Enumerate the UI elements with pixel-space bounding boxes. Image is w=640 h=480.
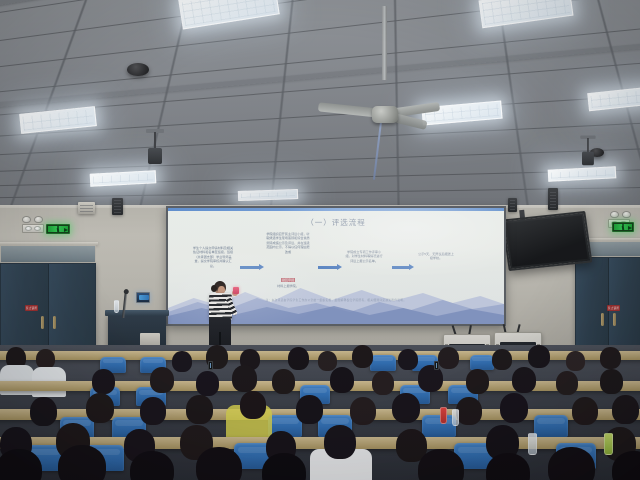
person-head	[456, 397, 482, 425]
ceiling-grid	[0, 0, 640, 215]
seat	[422, 415, 456, 437]
person-head	[330, 367, 354, 393]
ceiling-panel-light	[587, 87, 640, 111]
water-bottle	[604, 433, 613, 455]
person-head	[36, 349, 55, 369]
person-head	[398, 349, 418, 370]
person-head	[172, 351, 192, 372]
seat	[370, 355, 396, 371]
person-head	[566, 351, 585, 371]
ceiling-fan	[330, 78, 440, 138]
person-head	[130, 451, 174, 480]
smartphone	[208, 361, 213, 370]
person-head	[196, 371, 219, 396]
person-head	[196, 447, 242, 480]
wall-speaker	[548, 188, 558, 210]
person-head	[466, 369, 489, 394]
flow-step-4: 公示5天，无异议后报送上级学校。	[418, 252, 454, 261]
person-head	[288, 347, 309, 370]
person-head	[372, 371, 394, 395]
door-notice-plate: 禁止锁闭	[25, 305, 38, 311]
slide-title: （一）评选流程	[168, 217, 504, 228]
person-head	[240, 391, 266, 419]
person-head	[556, 371, 578, 395]
flow-step-3: 学院成立专项工作评审小组，对学生材料等情况进行评议上报公示名单。	[344, 250, 384, 263]
seat	[534, 415, 568, 437]
dome-speaker-icon	[127, 63, 149, 76]
handheld-pointer	[233, 287, 239, 294]
person-head	[58, 445, 106, 480]
person-head	[418, 449, 464, 480]
exit-sign-left	[46, 224, 70, 234]
ceiling-panel-light	[178, 0, 279, 29]
lecture-hall-photo: 禁止锁闭 禁止锁闭 （一）评选流程 学生个人提交申请材料及相关佐证材料和名单至班…	[0, 0, 640, 480]
audience-area	[0, 345, 640, 480]
person-head	[392, 393, 420, 423]
exit-sign-right	[612, 222, 634, 232]
person-head	[352, 345, 373, 368]
door-transom-left	[0, 245, 96, 263]
emergency-light	[610, 211, 631, 218]
person-head	[486, 453, 530, 480]
person-head	[296, 395, 323, 424]
ceiling-panel-light	[548, 166, 617, 182]
water-bottle	[440, 407, 447, 424]
person-head	[492, 349, 512, 370]
flow-arrow-1	[240, 266, 260, 269]
water-bottle	[528, 433, 537, 455]
person-head	[572, 397, 598, 425]
emergency-light-housing	[22, 224, 44, 233]
person-head	[30, 397, 57, 426]
flow-arrow-3	[392, 266, 410, 269]
person-head	[232, 365, 257, 392]
person-head	[528, 345, 550, 368]
person-head	[86, 393, 114, 423]
flow-step-1: 学生个人提交申请材料及相关佐证材料和名单至班级，班级（共青团支部）学业导师盖章，…	[192, 246, 234, 268]
person-head	[418, 365, 443, 392]
wall-speaker	[78, 202, 95, 214]
water-bottle	[452, 409, 459, 426]
ceiling-panel-light	[238, 189, 298, 201]
wall-tv-monitor[interactable]	[502, 211, 593, 271]
person-head	[600, 369, 623, 394]
wall-control-panel[interactable]	[136, 292, 150, 303]
wall-speaker	[112, 198, 123, 215]
person-head	[262, 453, 306, 480]
smartphone	[434, 361, 439, 370]
person-head	[612, 395, 639, 424]
water-bottle	[114, 300, 119, 313]
person-head	[318, 351, 337, 371]
wall-speaker	[508, 198, 517, 212]
person-head	[186, 395, 213, 424]
door-notice-plate: 禁止锁闭	[607, 305, 620, 311]
person-head	[272, 369, 295, 394]
person-head	[512, 367, 536, 393]
seat	[470, 355, 494, 370]
flow-arrow-2	[318, 266, 338, 269]
person-head	[600, 347, 621, 369]
emergency-light	[22, 216, 43, 223]
person-head	[92, 369, 115, 394]
flow-step-2: 学院组织召开民主评议小组，听取候选学生现场答辩和综合素质测评成绩公示及评议，并在…	[266, 232, 310, 254]
person-head	[438, 347, 459, 369]
person-head	[140, 397, 166, 425]
person-head	[324, 425, 356, 459]
person-head	[500, 393, 528, 423]
ceiling-panel-light	[478, 0, 573, 28]
person-head	[548, 447, 595, 480]
slide-top-accent-bar	[168, 208, 504, 211]
person-head	[150, 367, 174, 393]
person-head	[350, 397, 376, 425]
